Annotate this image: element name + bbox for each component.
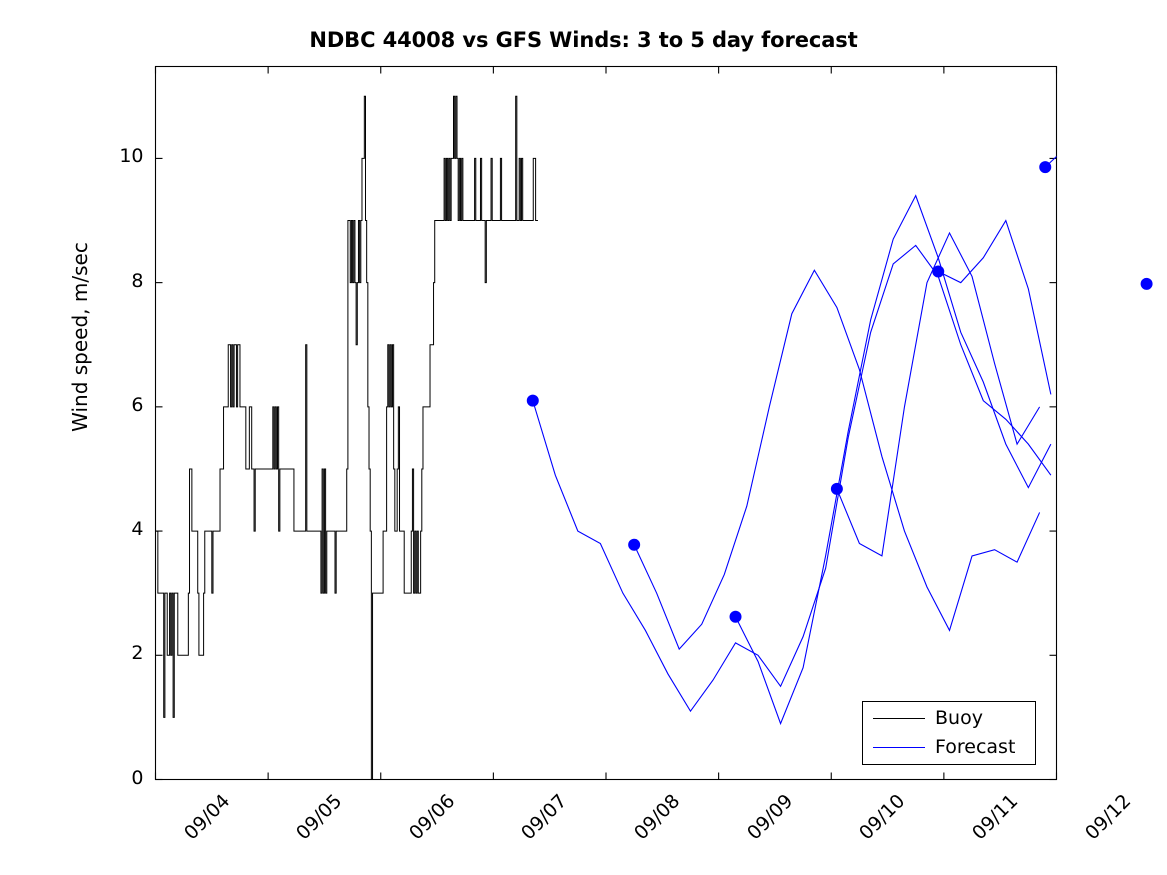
legend-line-forecast [873, 747, 925, 748]
legend-label-buoy: Buoy [935, 707, 983, 729]
y-tick-label: 8 [104, 270, 144, 292]
y-tick-label: 4 [104, 518, 144, 540]
y-tick-label: 10 [104, 145, 144, 167]
legend: Buoy Forecast [862, 701, 1036, 765]
legend-item-forecast: Forecast [863, 732, 1035, 763]
legend-line-buoy [873, 718, 925, 719]
legend-label-forecast: Forecast [935, 736, 1015, 758]
y-tick-label: 6 [104, 394, 144, 416]
chart-figure: NDBC 44008 vs GFS Winds: 3 to 5 day fore… [0, 0, 1167, 875]
y-tick-label: 2 [104, 642, 144, 664]
y-tick-label: 0 [104, 767, 144, 789]
legend-item-buoy: Buoy [863, 703, 1035, 734]
